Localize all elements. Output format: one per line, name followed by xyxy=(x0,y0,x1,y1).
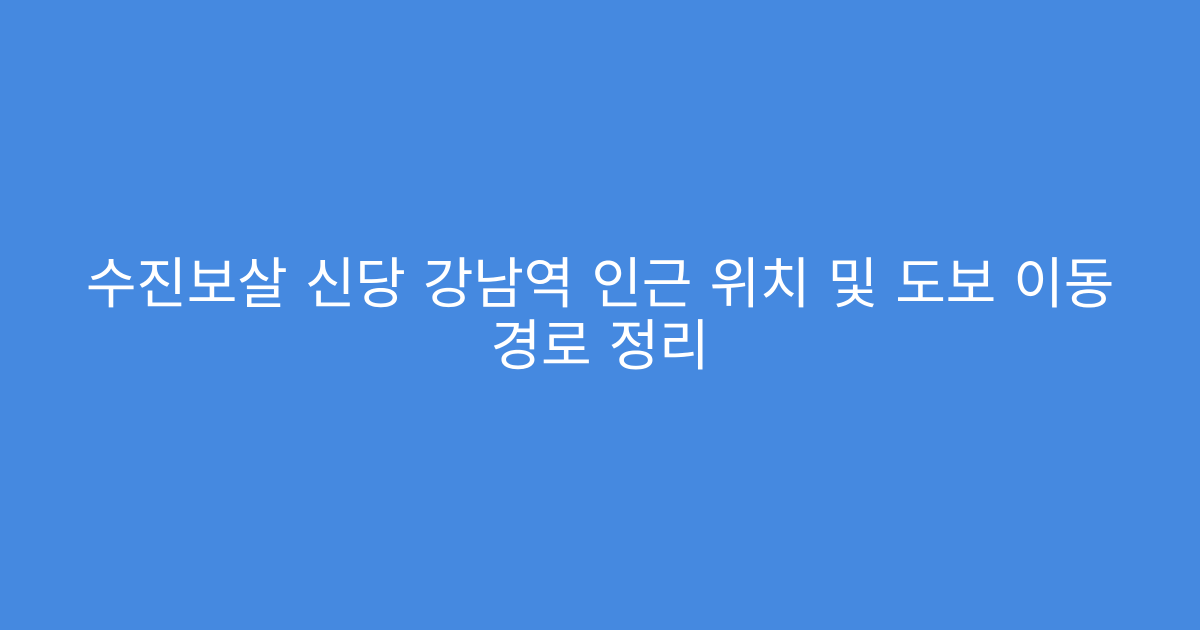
og-card: 수진보살 신당 강남역 인근 위치 및 도보 이동 경로 정리 xyxy=(0,0,1200,630)
page-title: 수진보살 신당 강남역 인근 위치 및 도보 이동 경로 정리 xyxy=(60,253,1140,377)
